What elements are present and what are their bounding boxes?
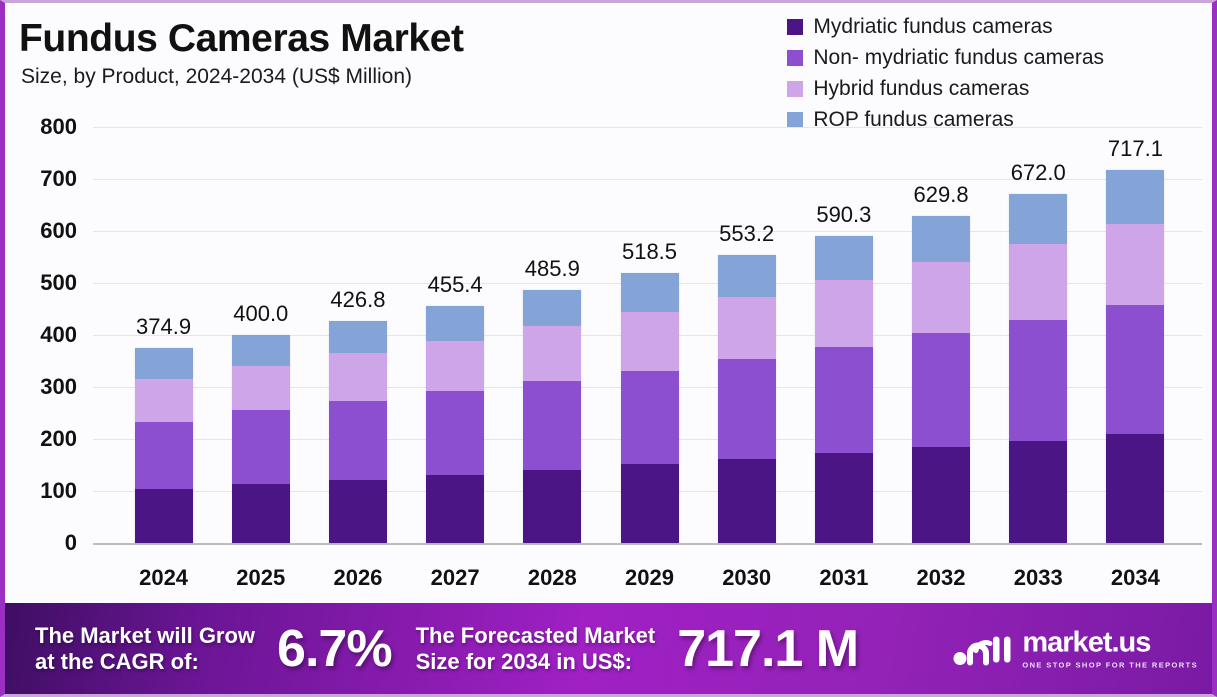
bar-segment[interactable]	[815, 347, 873, 453]
bar-segment[interactable]	[426, 306, 484, 340]
bar-segment[interactable]	[718, 297, 776, 359]
bar-segment[interactable]	[1106, 170, 1164, 224]
stacked-bar[interactable]	[426, 306, 484, 543]
stacked-bar[interactable]	[135, 348, 193, 543]
bar-column[interactable]: 518.52029	[621, 3, 679, 603]
bar-segment[interactable]	[426, 391, 484, 474]
stacked-bar[interactable]	[329, 321, 387, 543]
cagr-label-line1: The Market will Grow	[35, 623, 255, 649]
logo-mark-icon	[952, 629, 1014, 669]
bar-column[interactable]: 455.42027	[426, 3, 484, 603]
bar-segment[interactable]	[1106, 224, 1164, 305]
bar-segment[interactable]	[718, 255, 776, 297]
y-axis-tick-label: 400	[40, 322, 77, 348]
x-axis-tick-label: 2033	[988, 565, 1088, 591]
bar-column[interactable]: 374.92024	[135, 3, 193, 603]
bar-segment[interactable]	[426, 475, 484, 543]
y-axis-tick-label: 200	[40, 426, 77, 452]
bar-segment[interactable]	[135, 348, 193, 379]
bar-segment[interactable]	[1009, 320, 1067, 441]
bar-column[interactable]: 485.92028	[523, 3, 581, 603]
x-axis-tick-label: 2025	[211, 565, 311, 591]
bar-segment[interactable]	[329, 353, 387, 401]
bar-column[interactable]: 717.12034	[1106, 3, 1164, 603]
forecast-label-line2: Size for 2034 in US$:	[416, 649, 656, 675]
bar-total-label: 672.0	[978, 160, 1098, 186]
chart-plot-area: 0100200300400500600700800 374.92024400.0…	[5, 3, 1212, 603]
bar-total-label: 717.1	[1075, 136, 1195, 162]
bar-segment[interactable]	[232, 410, 290, 484]
bar-segment[interactable]	[1106, 305, 1164, 433]
x-axis-tick-label: 2026	[308, 565, 408, 591]
bar-segment[interactable]	[232, 366, 290, 411]
x-axis-tick-label: 2028	[502, 565, 602, 591]
forecast-label: The Forecasted Market Size for 2034 in U…	[416, 623, 656, 675]
footer-banner: The Market will Grow at the CAGR of: 6.7…	[5, 603, 1212, 694]
stacked-bar[interactable]	[1009, 194, 1067, 543]
forecast-value: 717.1 M	[677, 619, 858, 679]
market-us-logo[interactable]: market.us ONE STOP SHOP FOR THE REPORTS	[952, 628, 1198, 669]
bar-segment[interactable]	[815, 453, 873, 543]
stacked-bar[interactable]	[523, 290, 581, 543]
x-axis-tick-label: 2032	[891, 565, 991, 591]
bar-column[interactable]: 400.02025	[232, 3, 290, 603]
bar-segment[interactable]	[329, 401, 387, 479]
bar-segment[interactable]	[815, 280, 873, 346]
bar-segment[interactable]	[1009, 441, 1067, 543]
y-axis-tick-label: 100	[40, 478, 77, 504]
bar-segment[interactable]	[523, 326, 581, 381]
y-axis-tick-label: 700	[40, 166, 77, 192]
bar-segment[interactable]	[621, 464, 679, 543]
y-axis: 0100200300400500600700800	[5, 3, 91, 603]
infographic-root: Fundus Cameras Market Size, by Product, …	[0, 0, 1217, 697]
bar-segment[interactable]	[135, 379, 193, 423]
x-axis-tick-label: 2024	[114, 565, 214, 591]
bar-group: 374.92024400.02025426.82026455.42027485.…	[93, 3, 1202, 603]
forecast-label-line1: The Forecasted Market	[416, 623, 656, 649]
bar-segment[interactable]	[135, 422, 193, 488]
bar-segment[interactable]	[912, 447, 970, 543]
stacked-bar[interactable]	[232, 335, 290, 543]
x-axis-tick-label: 2029	[600, 565, 700, 591]
bar-segment[interactable]	[1106, 434, 1164, 543]
stacked-bar[interactable]	[815, 236, 873, 543]
y-axis-tick-label: 600	[40, 218, 77, 244]
bar-segment[interactable]	[621, 273, 679, 312]
bar-segment[interactable]	[426, 341, 484, 392]
bar-segment[interactable]	[523, 290, 581, 326]
logo-name: market.us	[1022, 628, 1198, 657]
x-axis-tick-label: 2034	[1085, 565, 1185, 591]
bar-segment[interactable]	[523, 470, 581, 543]
stacked-bar[interactable]	[621, 273, 679, 543]
stacked-bar[interactable]	[912, 216, 970, 543]
bar-column[interactable]: 629.82032	[912, 3, 970, 603]
bar-segment[interactable]	[523, 381, 581, 469]
logo-text: market.us ONE STOP SHOP FOR THE REPORTS	[1022, 628, 1198, 669]
bar-segment[interactable]	[912, 333, 970, 447]
bar-column[interactable]: 553.22030	[718, 3, 776, 603]
bar-segment[interactable]	[621, 371, 679, 465]
bar-segment[interactable]	[912, 216, 970, 263]
bar-segment[interactable]	[329, 321, 387, 353]
bar-segment[interactable]	[912, 262, 970, 333]
bar-segment[interactable]	[718, 459, 776, 543]
bar-column[interactable]: 426.82026	[329, 3, 387, 603]
y-axis-tick-label: 500	[40, 270, 77, 296]
x-axis-tick-label: 2030	[697, 565, 797, 591]
y-axis-tick-label: 300	[40, 374, 77, 400]
bar-segment[interactable]	[232, 335, 290, 366]
bar-segment[interactable]	[1009, 194, 1067, 245]
bar-segment[interactable]	[329, 480, 387, 543]
y-axis-tick-label: 800	[40, 114, 77, 140]
x-axis-tick-label: 2031	[794, 565, 894, 591]
cagr-label: The Market will Grow at the CAGR of:	[35, 623, 255, 675]
cagr-label-line2: at the CAGR of:	[35, 649, 255, 675]
y-axis-tick-label: 0	[65, 530, 77, 556]
bar-column[interactable]: 590.32031	[815, 3, 873, 603]
bar-segment[interactable]	[815, 236, 873, 280]
bar-segment[interactable]	[135, 489, 193, 543]
stacked-bar[interactable]	[1106, 170, 1164, 543]
bar-segment[interactable]	[718, 359, 776, 459]
cagr-value: 6.7%	[277, 619, 392, 679]
logo-tagline: ONE STOP SHOP FOR THE REPORTS	[1022, 660, 1198, 669]
x-axis-tick-label: 2027	[405, 565, 505, 591]
bar-segment[interactable]	[1009, 244, 1067, 320]
bar-column[interactable]: 672.02033	[1009, 3, 1067, 603]
bar-segment[interactable]	[621, 312, 679, 371]
stacked-bar[interactable]	[718, 255, 776, 543]
bar-segment[interactable]	[232, 484, 290, 543]
